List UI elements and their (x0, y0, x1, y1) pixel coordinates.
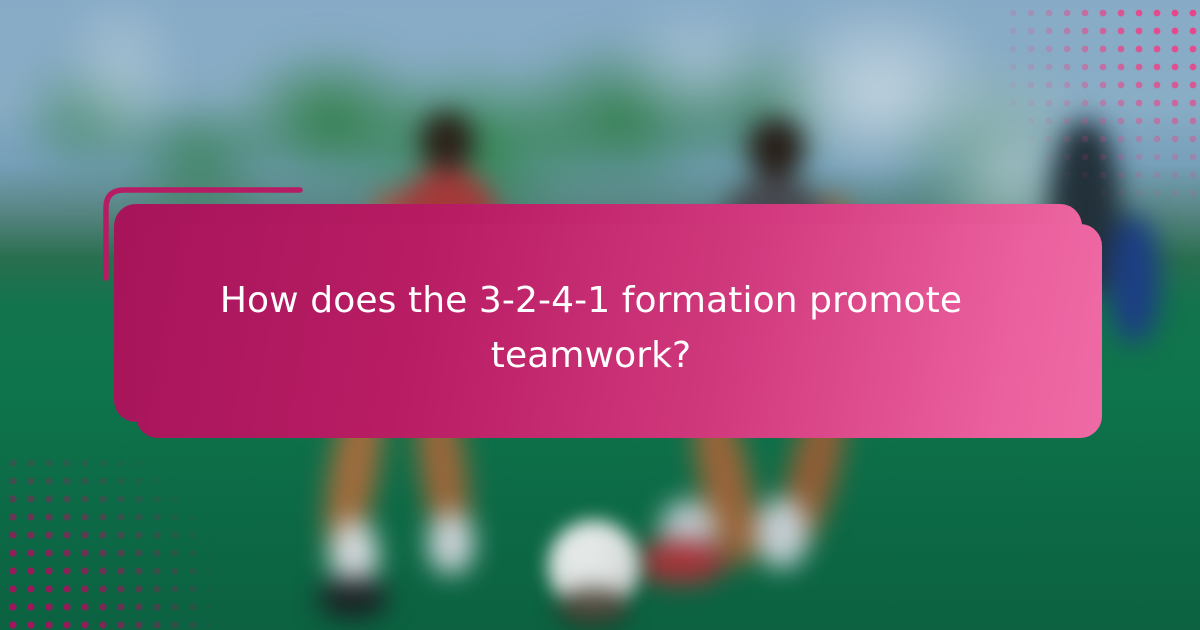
halftone-dots-top-right-icon (1000, 0, 1200, 200)
halftone-dots-bottom-left-icon (0, 450, 210, 630)
page-title: How does the 3-2-4-1 formation promote t… (211, 274, 971, 383)
screenshot-canvas: How does the 3-2-4-1 formation promote t… (0, 0, 1200, 630)
question-card: How does the 3-2-4-1 formation promote t… (136, 224, 1102, 438)
